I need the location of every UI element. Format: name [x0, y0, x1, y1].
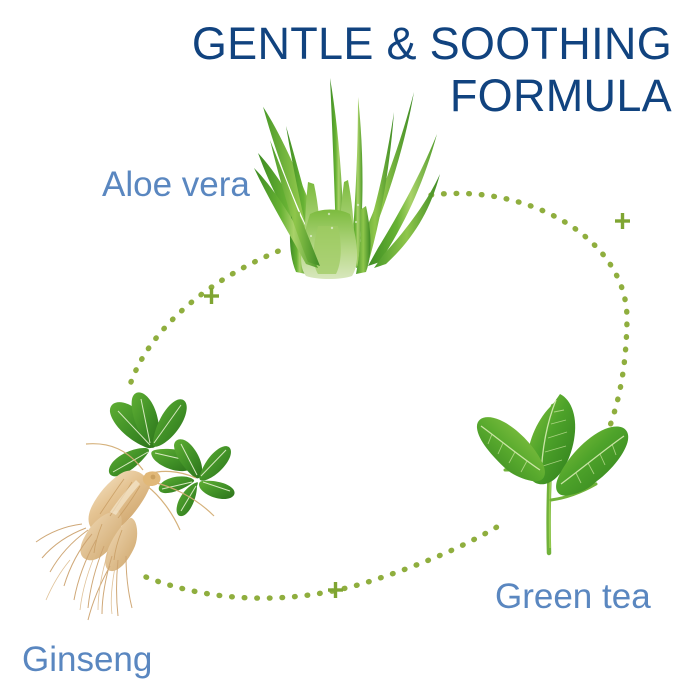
ingredient-label-aloe-vera: Aloe vera — [102, 166, 250, 204]
arc-ginseng-to-aloe — [131, 250, 281, 382]
green-tea-illustration — [477, 394, 628, 553]
page-title: GENTLE & SOOTHING FORMULA — [152, 18, 672, 122]
ingredient-label-ginseng: Ginseng — [22, 641, 152, 679]
arc-aloe-to-greentea — [431, 193, 627, 437]
ginseng-illustration — [36, 392, 235, 620]
arc-ginseng-to-greentea — [146, 524, 502, 598]
plus-icon-bottom — [328, 582, 343, 598]
ingredient-label-green-tea: Green tea — [495, 578, 651, 616]
infographic-canvas: GENTLE & SOOTHING FORMULA Aloe vera Gree… — [0, 0, 700, 700]
plus-icon-right — [615, 213, 630, 229]
plus-icon-left — [204, 288, 219, 304]
